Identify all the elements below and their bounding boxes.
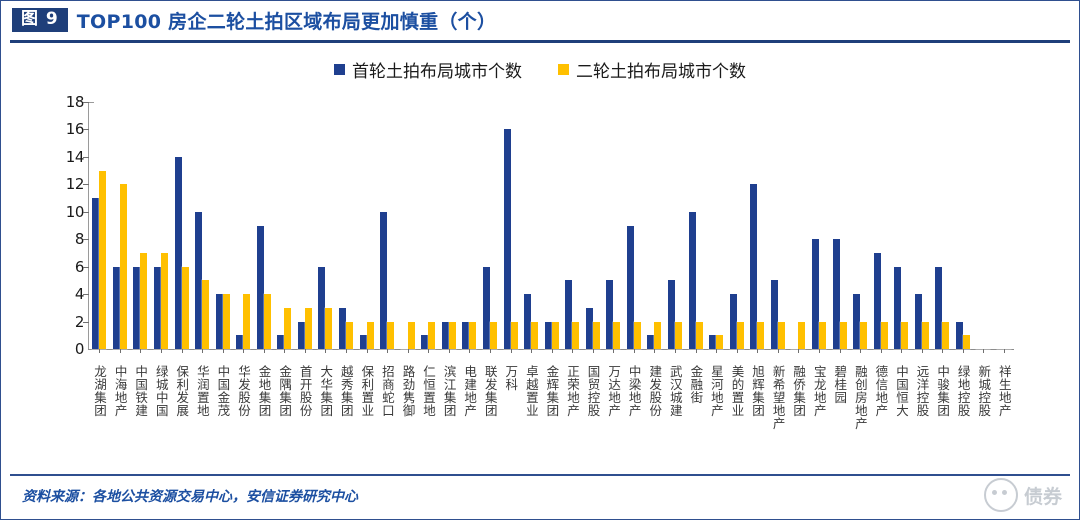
bar-group[interactable] bbox=[644, 102, 665, 349]
bar-series1 bbox=[462, 322, 469, 349]
x-axis-category-label: 金融街 bbox=[689, 365, 703, 465]
x-axis-category-label: 中国恒大 bbox=[894, 365, 908, 465]
bar-series2 bbox=[860, 322, 867, 349]
bar-series1 bbox=[277, 335, 284, 349]
x-axis-label-cell: 保利发展 bbox=[171, 365, 192, 465]
x-axis-category-label: 绿城中国 bbox=[154, 365, 168, 465]
bar-series1 bbox=[956, 322, 963, 349]
x-axis-category-label: 联发集团 bbox=[483, 365, 497, 465]
bar-series1 bbox=[565, 280, 572, 349]
bar-series1 bbox=[874, 253, 881, 349]
x-axis-label-cell: 金隅集团 bbox=[274, 365, 295, 465]
bar-group[interactable] bbox=[315, 102, 336, 349]
x-axis-category-label: 大华集团 bbox=[319, 365, 333, 465]
x-axis-label-cell: 武汉城建 bbox=[665, 365, 686, 465]
bar-group[interactable] bbox=[809, 102, 830, 349]
bar-group[interactable] bbox=[418, 102, 439, 349]
bar-series1 bbox=[647, 335, 654, 349]
bar-series1 bbox=[236, 335, 243, 349]
bar-group[interactable] bbox=[953, 102, 974, 349]
bar-group[interactable] bbox=[603, 102, 624, 349]
bar-group[interactable] bbox=[397, 102, 418, 349]
x-axis-category-label: 越秀集团 bbox=[339, 365, 353, 465]
x-axis-category-label: 星河地产 bbox=[709, 365, 723, 465]
x-axis-label-cell: 滨江集团 bbox=[439, 365, 460, 465]
bar-group[interactable] bbox=[110, 102, 131, 349]
bar-series1 bbox=[318, 267, 325, 349]
x-axis-label-cell: 中国金茂 bbox=[212, 365, 233, 465]
bar-group[interactable] bbox=[377, 102, 398, 349]
x-axis-label-cell: 首开股份 bbox=[295, 365, 316, 465]
bar-group[interactable] bbox=[747, 102, 768, 349]
x-axis-category-label: 旭辉集团 bbox=[751, 365, 765, 465]
bar-group[interactable] bbox=[233, 102, 254, 349]
x-axis-label-cell: 金辉集团 bbox=[541, 365, 562, 465]
x-axis-label-cell: 大华集团 bbox=[315, 365, 336, 465]
x-axis-category-label: 保利发展 bbox=[175, 365, 189, 465]
x-axis-label-cell: 中海地产 bbox=[110, 365, 131, 465]
x-axis-label-cell: 绿城中国 bbox=[151, 365, 172, 465]
x-axis-category-label: 碧桂园 bbox=[833, 365, 847, 465]
bar-series2 bbox=[757, 322, 764, 349]
bar-series1 bbox=[545, 322, 552, 349]
x-axis-label-cell: 碧桂园 bbox=[829, 365, 850, 465]
bar-series2 bbox=[284, 308, 291, 349]
bar-group[interactable] bbox=[192, 102, 213, 349]
y-axis-tick-label: 12 bbox=[66, 175, 84, 193]
x-axis-label-cell: 旭辉集团 bbox=[747, 365, 768, 465]
bar-series1 bbox=[771, 280, 778, 349]
x-axis-category-label: 万达地产 bbox=[607, 365, 621, 465]
bar-series2 bbox=[613, 322, 620, 349]
chart-legend: 首轮土拍布局城市个数二轮土拍布局城市个数 bbox=[0, 57, 1080, 82]
bar-group[interactable] bbox=[624, 102, 645, 349]
x-axis-label-cell: 中国铁建 bbox=[130, 365, 151, 465]
bar-series2 bbox=[654, 322, 661, 349]
bar-series2 bbox=[408, 322, 415, 349]
x-axis-label-cell: 万达地产 bbox=[603, 365, 624, 465]
bar-series1 bbox=[935, 267, 942, 349]
header-divider bbox=[10, 40, 1070, 43]
x-axis-label-cell: 华发股份 bbox=[233, 365, 254, 465]
bar-series1 bbox=[606, 280, 613, 349]
bar-series1 bbox=[216, 294, 223, 349]
bar-series1 bbox=[709, 335, 716, 349]
x-axis-category-label: 武汉城建 bbox=[668, 365, 682, 465]
bar-group[interactable] bbox=[89, 102, 110, 349]
bar-series1 bbox=[627, 226, 634, 350]
bar-series1 bbox=[853, 294, 860, 349]
source-note: 资料来源：各地公共资源交易中心，安信证券研究中心 bbox=[22, 486, 358, 506]
bar-series2 bbox=[120, 184, 127, 349]
bar-series2 bbox=[922, 322, 929, 349]
bar-series1 bbox=[339, 308, 346, 349]
x-axis-label-cell: 卓越置业 bbox=[521, 365, 542, 465]
bar-series1 bbox=[668, 280, 675, 349]
y-axis-tick-labels: 024681012141618 bbox=[48, 96, 84, 349]
bar-group[interactable] bbox=[706, 102, 727, 349]
bar-group[interactable] bbox=[480, 102, 501, 349]
bar-series2 bbox=[798, 322, 805, 349]
legend-item-label: 首轮土拍布局城市个数 bbox=[352, 57, 522, 82]
bar-group[interactable] bbox=[973, 102, 994, 349]
x-axis-category-label: 中海地产 bbox=[113, 365, 127, 465]
bar-series2 bbox=[346, 322, 353, 349]
watermark: 债券 bbox=[984, 478, 1062, 512]
bar-group[interactable] bbox=[459, 102, 480, 349]
x-axis-category-label: 正荣地产 bbox=[565, 365, 579, 465]
bar-series1 bbox=[833, 239, 840, 349]
bar-series2 bbox=[469, 322, 476, 349]
bar-series2 bbox=[449, 322, 456, 349]
bar-series1 bbox=[195, 212, 202, 349]
x-axis-category-label: 保利置业 bbox=[360, 365, 374, 465]
bar-group[interactable] bbox=[829, 102, 850, 349]
bar-series1 bbox=[504, 129, 511, 349]
bar-group[interactable] bbox=[583, 102, 604, 349]
bar-series2 bbox=[881, 322, 888, 349]
x-axis-category-label: 国贸控股 bbox=[586, 365, 600, 465]
y-axis-tick-label: 16 bbox=[66, 120, 84, 138]
x-axis-label-cell: 联发集团 bbox=[480, 365, 501, 465]
x-axis-label-cell: 美的置业 bbox=[726, 365, 747, 465]
bar-series1 bbox=[915, 294, 922, 349]
bar-series2 bbox=[737, 322, 744, 349]
bar-series1 bbox=[812, 239, 819, 349]
legend-item-1[interactable]: 首轮土拍布局城市个数 bbox=[334, 57, 522, 82]
x-axis-category-label: 融创房地产 bbox=[853, 365, 867, 465]
x-axis-label-cell: 祥生地产 bbox=[994, 365, 1015, 465]
x-axis-label-cell: 绿地控股 bbox=[953, 365, 974, 465]
bar-group[interactable] bbox=[562, 102, 583, 349]
x-axis-label-cell: 新城控股 bbox=[973, 365, 994, 465]
x-axis-category-label: 新希望地产 bbox=[771, 365, 785, 465]
bar-series2 bbox=[367, 322, 374, 349]
x-axis-label-cell: 新希望地产 bbox=[768, 365, 789, 465]
wechat-logo-icon bbox=[984, 478, 1018, 512]
watermark-label: 债券 bbox=[1024, 482, 1062, 509]
bar-series1 bbox=[257, 226, 264, 350]
bar-series2 bbox=[840, 322, 847, 349]
bar-group[interactable] bbox=[768, 102, 789, 349]
bar-series1 bbox=[380, 212, 387, 349]
x-axis-label-cell: 德信地产 bbox=[870, 365, 891, 465]
bar-series2 bbox=[325, 308, 332, 349]
x-axis-category-label: 中国金茂 bbox=[216, 365, 230, 465]
bar-series1 bbox=[894, 267, 901, 349]
bar-series1 bbox=[154, 267, 161, 349]
bar-series1 bbox=[750, 184, 757, 349]
y-axis-tick-label: 14 bbox=[66, 148, 84, 166]
x-axis-label-cell: 招商蛇口 bbox=[377, 365, 398, 465]
x-axis-label-cell: 远洋控股 bbox=[912, 365, 933, 465]
y-axis-tick-label: 18 bbox=[66, 93, 84, 111]
bar-group[interactable] bbox=[726, 102, 747, 349]
bar-group[interactable] bbox=[274, 102, 295, 349]
x-axis-category-label: 宝龙地产 bbox=[812, 365, 826, 465]
bar-series1 bbox=[360, 335, 367, 349]
bar-series2 bbox=[99, 171, 106, 349]
bar-series2 bbox=[696, 322, 703, 349]
bar-series1 bbox=[586, 308, 593, 349]
x-axis-category-label: 首开股份 bbox=[298, 365, 312, 465]
x-axis-category-label: 建发股份 bbox=[648, 365, 662, 465]
x-axis-category-label: 远洋控股 bbox=[915, 365, 929, 465]
bar-series2 bbox=[675, 322, 682, 349]
bar-group[interactable] bbox=[994, 102, 1015, 349]
bar-group[interactable] bbox=[850, 102, 871, 349]
x-axis-label-cell: 宝龙地产 bbox=[809, 365, 830, 465]
bar-series2 bbox=[428, 322, 435, 349]
x-axis-category-label: 路劲隽御 bbox=[401, 365, 415, 465]
bar-series2 bbox=[634, 322, 641, 349]
bar-series1 bbox=[524, 294, 531, 349]
x-axis-category-label: 金辉集团 bbox=[545, 365, 559, 465]
bar-series2 bbox=[140, 253, 147, 349]
bar-series2 bbox=[305, 308, 312, 349]
bar-series2 bbox=[243, 294, 250, 349]
bar-series2 bbox=[387, 322, 394, 349]
bar-series2 bbox=[490, 322, 497, 349]
x-axis-category-label: 龙湖集团 bbox=[93, 365, 107, 465]
y-axis-tick-label: 0 bbox=[75, 340, 84, 358]
bar-group[interactable] bbox=[870, 102, 891, 349]
bar-series1 bbox=[175, 157, 182, 349]
x-axis-category-label: 德信地产 bbox=[874, 365, 888, 465]
bar-series1 bbox=[442, 322, 449, 349]
x-axis-category-label: 卓越置业 bbox=[524, 365, 538, 465]
figure-header: 图 9 TOP100 房企二轮土拍区域布局更加慎重（个） bbox=[0, 0, 1080, 40]
chart-plot-area: 024681012141618 bbox=[0, 96, 1080, 366]
bar-series-container bbox=[89, 102, 1014, 349]
bar-series2 bbox=[778, 322, 785, 349]
bar-series2 bbox=[819, 322, 826, 349]
bar-group[interactable] bbox=[665, 102, 686, 349]
x-axis-label-cell: 中骏集团 bbox=[932, 365, 953, 465]
x-axis-category-label: 招商蛇口 bbox=[380, 365, 394, 465]
legend-swatch-icon bbox=[558, 64, 569, 75]
x-axis-label-cell: 国贸控股 bbox=[583, 365, 604, 465]
bar-group[interactable] bbox=[254, 102, 275, 349]
bar-series2 bbox=[223, 294, 230, 349]
bar-group[interactable] bbox=[891, 102, 912, 349]
bar-series1 bbox=[298, 322, 305, 349]
x-axis-label-cell: 电建地产 bbox=[459, 365, 480, 465]
x-axis-category-label: 中国铁建 bbox=[134, 365, 148, 465]
bar-series2 bbox=[963, 335, 970, 349]
bar-group[interactable] bbox=[212, 102, 233, 349]
x-axis-category-label: 万科 bbox=[504, 365, 518, 465]
x-axis-label-cell: 万科 bbox=[500, 365, 521, 465]
x-axis-label-cell: 金地集团 bbox=[254, 365, 275, 465]
bar-group[interactable] bbox=[439, 102, 460, 349]
bar-group[interactable] bbox=[521, 102, 542, 349]
bar-series2 bbox=[202, 280, 209, 349]
legend-item-2[interactable]: 二轮土拍布局城市个数 bbox=[558, 57, 746, 82]
x-axis-label-cell: 中国恒大 bbox=[891, 365, 912, 465]
x-axis-label-cell: 仁恒置地 bbox=[418, 365, 439, 465]
x-axis-category-labels: 龙湖集团中海地产中国铁建绿城中国保利发展华润置地中国金茂华发股份金地集团金隅集团… bbox=[89, 365, 1014, 465]
x-axis-label-cell: 金融街 bbox=[685, 365, 706, 465]
bar-series1 bbox=[483, 267, 490, 349]
bar-series1 bbox=[689, 212, 696, 349]
bar-group[interactable] bbox=[912, 102, 933, 349]
bar-group[interactable] bbox=[171, 102, 192, 349]
x-axis-category-label: 祥生地产 bbox=[997, 365, 1011, 465]
bar-series2 bbox=[593, 322, 600, 349]
x-axis-category-label: 华发股份 bbox=[236, 365, 250, 465]
bar-series2 bbox=[716, 335, 723, 349]
x-axis-category-label: 美的置业 bbox=[730, 365, 744, 465]
bar-group[interactable] bbox=[336, 102, 357, 349]
x-axis-label-cell: 龙湖集团 bbox=[89, 365, 110, 465]
bar-group[interactable] bbox=[788, 102, 809, 349]
bar-series2 bbox=[511, 322, 518, 349]
bar-series2 bbox=[161, 253, 168, 349]
x-axis-category-label: 绿地控股 bbox=[956, 365, 970, 465]
bar-group[interactable] bbox=[356, 102, 377, 349]
bar-group[interactable] bbox=[685, 102, 706, 349]
x-axis-label-cell: 融创房地产 bbox=[850, 365, 871, 465]
x-axis-category-label: 仁恒置地 bbox=[422, 365, 436, 465]
bar-series2 bbox=[572, 322, 579, 349]
bar-group[interactable] bbox=[151, 102, 172, 349]
bar-series2 bbox=[182, 267, 189, 349]
bar-series2 bbox=[531, 322, 538, 349]
x-axis-category-label: 滨江集团 bbox=[442, 365, 456, 465]
x-axis-category-label: 金隅集团 bbox=[278, 365, 292, 465]
x-axis-label-cell: 融侨集团 bbox=[788, 365, 809, 465]
y-axis-tick-label: 10 bbox=[66, 203, 84, 221]
x-axis-label-cell: 星河地产 bbox=[706, 365, 727, 465]
bar-group[interactable] bbox=[500, 102, 521, 349]
bar-series2 bbox=[264, 294, 271, 349]
bar-series1 bbox=[730, 294, 737, 349]
x-axis-label-cell: 建发股份 bbox=[644, 365, 665, 465]
bar-series1 bbox=[113, 267, 120, 349]
x-axis-label-cell: 保利置业 bbox=[356, 365, 377, 465]
x-axis-category-label: 金地集团 bbox=[257, 365, 271, 465]
bar-series1 bbox=[421, 335, 428, 349]
bar-series2 bbox=[901, 322, 908, 349]
figure-number-badge: 图 9 bbox=[12, 8, 68, 32]
x-axis-category-label: 中梁地产 bbox=[627, 365, 641, 465]
x-axis-category-label: 华润置地 bbox=[195, 365, 209, 465]
x-axis-category-label: 中骏集团 bbox=[936, 365, 950, 465]
bar-series1 bbox=[92, 198, 99, 349]
bar-series2 bbox=[552, 322, 559, 349]
x-axis-label-cell: 中梁地产 bbox=[624, 365, 645, 465]
x-axis-label-cell: 正荣地产 bbox=[562, 365, 583, 465]
bar-group[interactable] bbox=[295, 102, 316, 349]
x-axis-label-cell: 路劲隽御 bbox=[397, 365, 418, 465]
x-axis-category-label: 新城控股 bbox=[977, 365, 991, 465]
legend-item-label: 二轮土拍布局城市个数 bbox=[576, 57, 746, 82]
bar-group[interactable] bbox=[130, 102, 151, 349]
x-axis-category-label: 融侨集团 bbox=[792, 365, 806, 465]
x-axis-label-cell: 越秀集团 bbox=[336, 365, 357, 465]
bar-group[interactable] bbox=[932, 102, 953, 349]
page-title: TOP100 房企二轮土拍区域布局更加慎重（个） bbox=[77, 7, 497, 34]
bar-group[interactable] bbox=[541, 102, 562, 349]
footer-divider bbox=[10, 474, 1070, 476]
legend-swatch-icon bbox=[334, 64, 345, 75]
bar-series1 bbox=[133, 267, 140, 349]
x-axis-category-label: 电建地产 bbox=[463, 365, 477, 465]
bar-series2 bbox=[942, 322, 949, 349]
x-axis-label-cell: 华润置地 bbox=[192, 365, 213, 465]
